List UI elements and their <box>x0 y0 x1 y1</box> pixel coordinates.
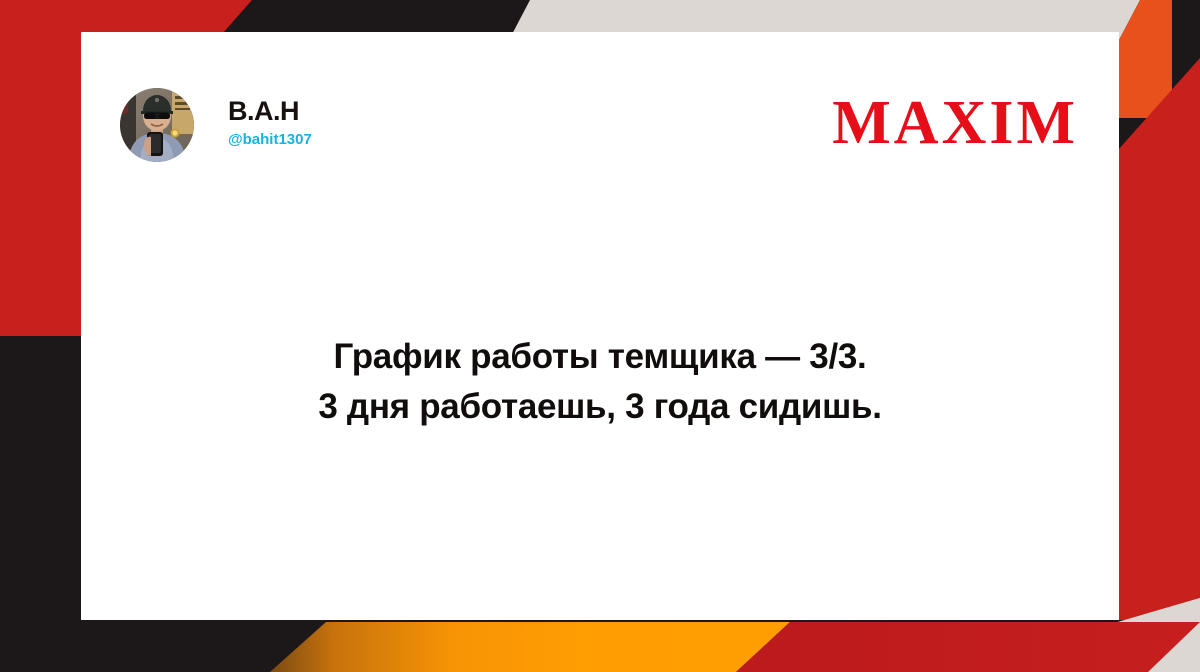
tweet-text: График работы темщика — 3/3. 3 дня работ… <box>81 332 1119 432</box>
tweet-card: B.A.H @bahit1307 MAXIM График работы тем… <box>81 32 1119 620</box>
author-display-name: B.A.H <box>228 96 548 126</box>
author-handle[interactable]: @bahit1307 <box>228 131 548 149</box>
bg-shape-bottom-red-band <box>736 622 1200 672</box>
tweet-text-line-2: 3 дня работаешь, 3 года сидишь. <box>81 382 1119 432</box>
avatar[interactable] <box>120 88 194 162</box>
screenshot-root: B.A.H @bahit1307 MAXIM График работы тем… <box>0 0 1200 672</box>
user-selfie-avatar-icon <box>120 88 194 162</box>
tweet-text-line-1: График работы темщика — 3/3. <box>81 332 1119 382</box>
tweet-card-header: B.A.H @bahit1307 MAXIM <box>81 32 1119 202</box>
maxim-logo: MAXIM <box>832 90 1078 156</box>
bg-shape-bottom-orange-band <box>270 622 790 672</box>
author-block: B.A.H @bahit1307 <box>228 96 548 149</box>
